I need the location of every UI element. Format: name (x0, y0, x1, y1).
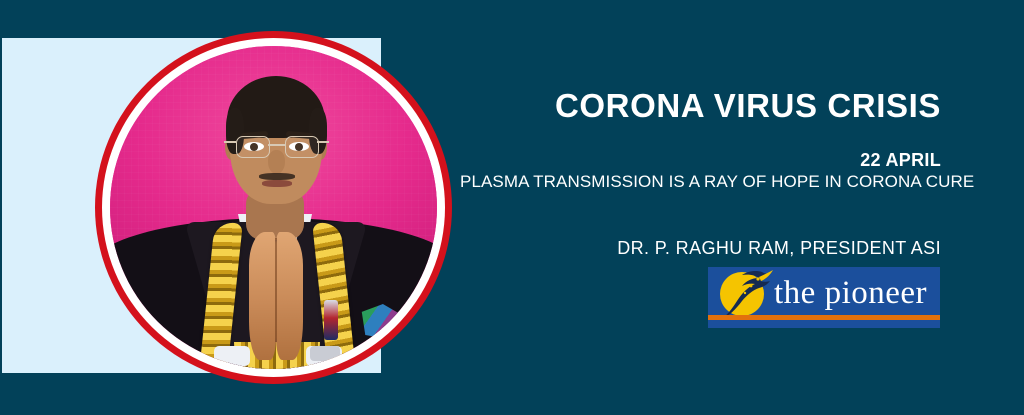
date-label: 22 APRIL (460, 150, 941, 171)
portrait-photo (110, 46, 437, 369)
wristwatch (310, 346, 340, 361)
eyeglasses-icon (234, 136, 319, 158)
glasses-temple-left (224, 141, 236, 143)
page-title: CORONA VIRUS CRISIS (460, 88, 941, 124)
the-pioneer-logo[interactable]: the pioneer (708, 267, 940, 328)
subtitle-text: PLASMA TRANSMISSION IS A RAY OF HOPE IN … (460, 172, 941, 192)
shirt-cuff-left (214, 346, 250, 366)
hand-left (249, 232, 276, 360)
lens-right (285, 136, 319, 158)
lens-left (236, 136, 270, 158)
swallow-bird-icon (718, 268, 780, 322)
credit-byline: DR. P. RAGHU RAM, PRESIDENT ASI (460, 238, 941, 259)
orange-accent-bar (708, 315, 940, 320)
hand-right (276, 232, 303, 360)
logo-wordmark: the pioneer (774, 270, 938, 316)
namaste-hands (249, 232, 303, 360)
mustache (259, 173, 295, 180)
corona-virus-crisis-banner: CORONA VIRUS CRISIS 22 APRIL PLASMA TRAN… (0, 0, 1024, 415)
glasses-bridge (268, 144, 285, 146)
portrait-circle (95, 31, 452, 384)
medal-ribbon (324, 300, 338, 340)
glasses-temple-right (317, 141, 329, 143)
hand-seam (275, 238, 277, 342)
mouth (262, 180, 292, 187)
